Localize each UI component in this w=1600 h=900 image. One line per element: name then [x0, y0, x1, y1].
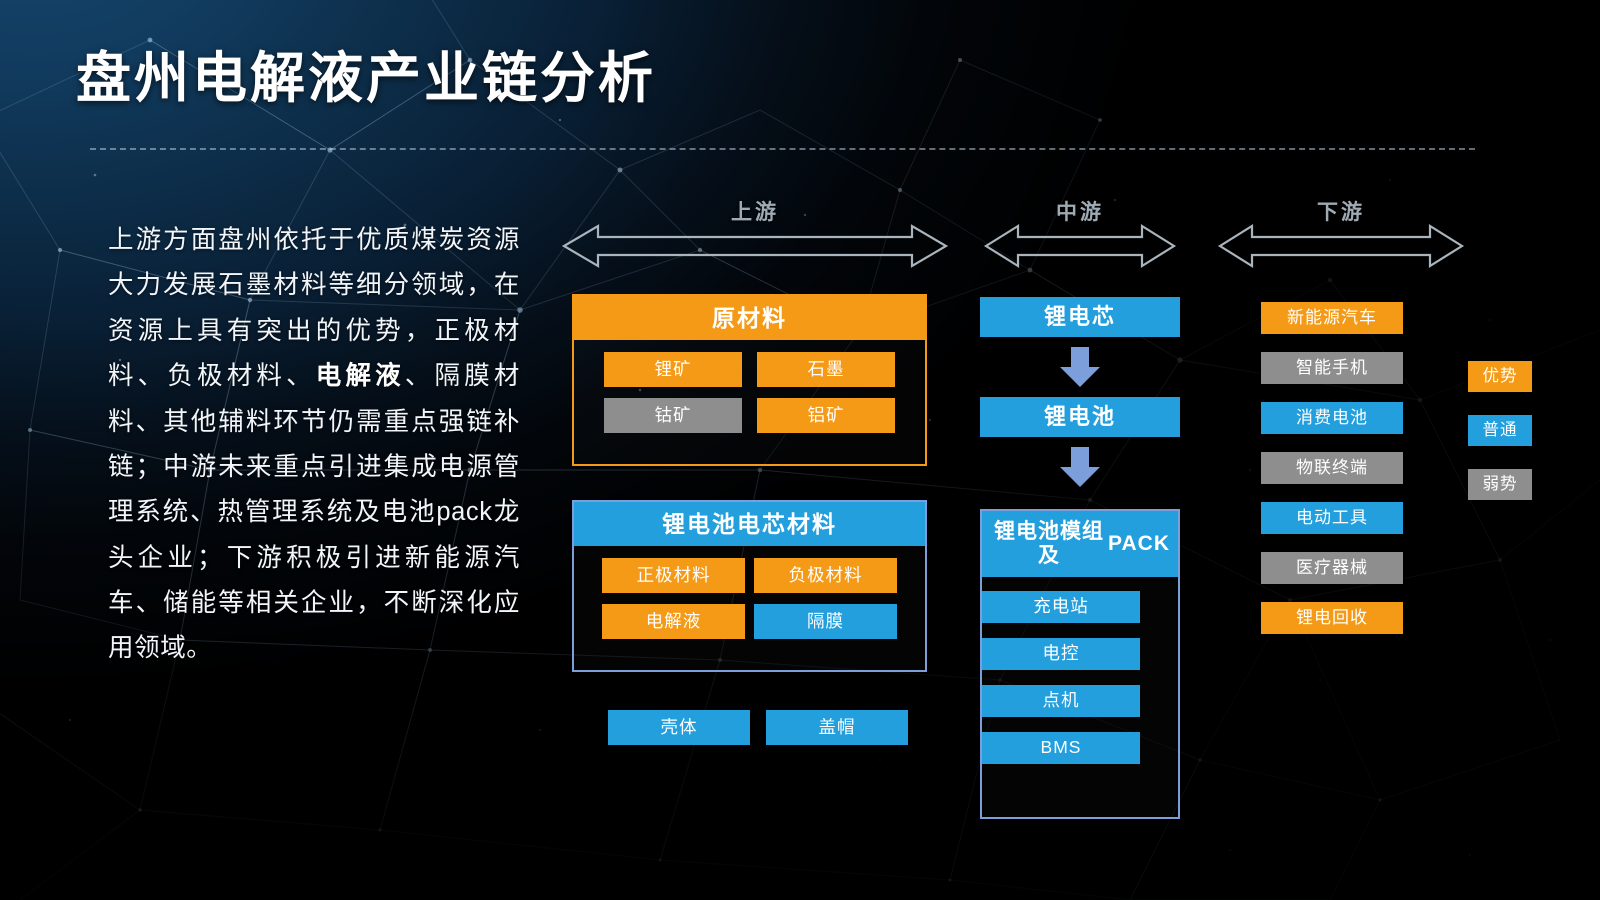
panel-header-raw-materials: 原材料	[574, 296, 925, 340]
legend-item-weak: 弱势	[1468, 469, 1532, 500]
legend: 优势 普通 弱势	[1468, 361, 1532, 500]
title-divider	[90, 148, 1475, 150]
down-arrow-icon	[1058, 445, 1102, 489]
chip-downstream-application[interactable]: 智能手机	[1261, 352, 1403, 384]
chip-pack-item[interactable]: 充电站	[982, 591, 1140, 623]
panel-raw-materials: 原材料 锂矿 石墨 钴矿 铝矿	[572, 294, 927, 466]
chip-downstream-application[interactable]: 锂电回收	[1261, 602, 1403, 634]
panel-body-raw-materials: 锂矿 石墨 钴矿 铝矿	[574, 340, 925, 433]
chip-downstream-application[interactable]: 医疗器械	[1261, 552, 1403, 584]
description-paragraph: 上游方面盘州依托于优质煤炭资源大力发展石墨材料等细分领域，在资源上具有突出的优势…	[108, 218, 520, 672]
page-title: 盘州电解液产业链分析	[76, 48, 656, 110]
legend-item-normal: 普通	[1468, 415, 1532, 446]
legend-item-advantage: 优势	[1468, 361, 1532, 392]
panel-header-line-2: PACK	[1108, 532, 1170, 556]
upstream-double-arrow-icon	[560, 222, 950, 270]
midstream-double-arrow-icon	[982, 222, 1178, 270]
paragraph-run: 、隔膜材料、其他辅料环节仍需重点强链补链；中游未来重点引进集成电源管理系统、热管…	[108, 362, 520, 662]
panel-body-cell-materials: 正极材料 负极材料 电解液 隔膜	[574, 546, 925, 639]
chip-cell-material[interactable]: 电解液	[602, 604, 745, 639]
chip-cell-material[interactable]: 正极材料	[602, 558, 745, 593]
chip-raw-material[interactable]: 钴矿	[604, 398, 742, 433]
chip-cell-material[interactable]: 负极材料	[754, 558, 897, 593]
row-extra-components: 壳体 盖帽	[608, 710, 908, 745]
chip-raw-material[interactable]: 铝矿	[757, 398, 895, 433]
panel-cell-materials: 锂电池电芯材料 正极材料 负极材料 电解液 隔膜	[572, 500, 927, 672]
panel-header-line-1: 锂电池模组及	[990, 520, 1108, 568]
chip-pack-item[interactable]: 电控	[982, 638, 1140, 670]
slide-canvas: 盘州电解液产业链分析 上游方面盘州依托于优质煤炭资源大力发展石墨材料等细分领域，…	[0, 0, 1600, 900]
chip-pack-item[interactable]: 点机	[982, 685, 1140, 717]
panel-header-battery-module-pack: 锂电池模组及 PACK	[982, 511, 1178, 577]
chip-raw-material[interactable]: 锂矿	[604, 352, 742, 387]
list-downstream-applications: 新能源汽车 智能手机 消费电池 物联终端 电动工具 医疗器械 锂电回收	[1261, 302, 1403, 634]
chip-downstream-application[interactable]: 消费电池	[1261, 402, 1403, 434]
chip-extra-component[interactable]: 壳体	[608, 710, 750, 745]
chip-cell-material[interactable]: 隔膜	[754, 604, 897, 639]
panel-battery-module-pack: 锂电池模组及 PACK 充电站 电控 点机 BMS	[980, 509, 1180, 819]
down-arrow-icon	[1058, 345, 1102, 389]
chip-midstream-lithium-cell[interactable]: 锂电芯	[980, 297, 1180, 337]
chip-extra-component[interactable]: 盖帽	[766, 710, 908, 745]
chip-downstream-application[interactable]: 电动工具	[1261, 502, 1403, 534]
paragraph-emphasis: 电解液	[316, 362, 405, 390]
chip-pack-item[interactable]: BMS	[982, 732, 1140, 764]
chip-downstream-application[interactable]: 新能源汽车	[1261, 302, 1403, 334]
chip-raw-material[interactable]: 石墨	[757, 352, 895, 387]
panel-header-cell-materials: 锂电池电芯材料	[574, 502, 925, 546]
downstream-double-arrow-icon	[1216, 222, 1466, 270]
panel-body-battery-module-pack: 充电站 电控 点机 BMS	[982, 577, 1178, 764]
chip-downstream-application[interactable]: 物联终端	[1261, 452, 1403, 484]
chip-midstream-lithium-battery[interactable]: 锂电池	[980, 397, 1180, 437]
